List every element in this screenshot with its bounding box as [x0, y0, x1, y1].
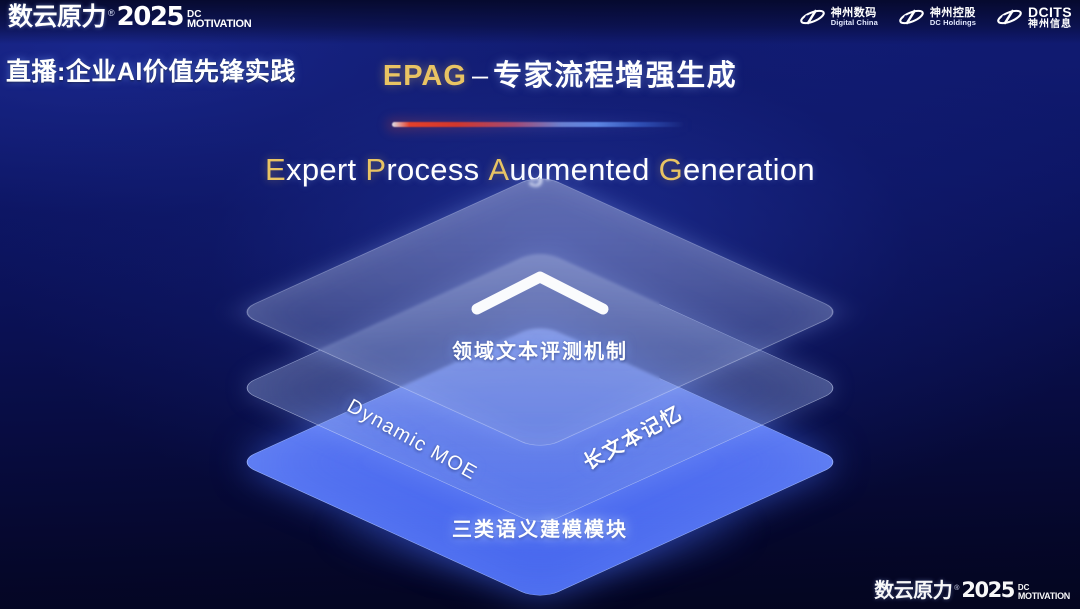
- watermark-brand-cn: 数云原力: [874, 581, 952, 601]
- expansion-rest-generation: eneration: [683, 152, 815, 187]
- expansion-rest-expert: xpert: [286, 152, 356, 187]
- logo-dc-holdings-text: 神州控股 DC Holdings: [930, 8, 976, 27]
- logo-digital-china-en: Digital China: [831, 19, 878, 27]
- watermark-dc-line2: MOTIVATION: [1018, 592, 1070, 600]
- logo-dc-holdings-en: DC Holdings: [930, 19, 976, 27]
- gradient-divider: [392, 122, 684, 127]
- logo-dcits-cn: 神州信息: [1028, 20, 1072, 30]
- brand-logo-bottom-right: 数云原力 ® 2025 DC MOTIVATION: [874, 580, 1070, 601]
- slide-title-cn: 专家流程增强生成: [493, 60, 737, 92]
- watermark-registered-mark: ®: [954, 585, 959, 592]
- slide-canvas: 数云原力 ® 2025 DC MOTIVATION 直播:企业AI价值先锋实践 …: [0, 0, 1080, 609]
- logo-dcits-text: DCITS 神州信息: [1028, 5, 1072, 30]
- expansion-cap-a: A: [488, 152, 509, 187]
- logo-dc-holdings: 神州控股 DC Holdings: [898, 7, 976, 27]
- slide-title-dash: –: [467, 60, 493, 92]
- partner-logo-group: 神州数码 Digital China 神州控股 DC Holdings: [799, 5, 1072, 30]
- slide-title: EPAG–专家流程增强生成: [0, 52, 1080, 94]
- swoosh-icon: [898, 7, 925, 27]
- layer-label-top: 领域文本评测机制: [290, 335, 790, 364]
- expansion-rest-process: rocess: [386, 152, 479, 187]
- brand-name-cn: 数云原力: [8, 5, 106, 30]
- expansion-space-3: [650, 152, 659, 187]
- expansion-cap-p: P: [365, 152, 386, 187]
- logo-digital-china-text: 神州数码 Digital China: [831, 8, 878, 27]
- expansion-cap-e: E: [265, 152, 286, 187]
- chevron-up-icon: [467, 267, 613, 317]
- watermark-dc-motivation: DC MOTIVATION: [1018, 584, 1070, 600]
- swoosh-icon: [996, 7, 1023, 27]
- logo-digital-china: 神州数码 Digital China: [799, 7, 878, 27]
- swoosh-icon: [799, 7, 826, 27]
- layer-label-bottom: 三类语义建模模块: [290, 513, 790, 542]
- watermark-year: 2025: [961, 580, 1013, 601]
- brand-registered-mark: ®: [108, 8, 115, 18]
- expansion-cap-g: G: [659, 152, 683, 187]
- brand-dc-line2: MOTIVATION: [187, 19, 251, 29]
- brand-logo-top-left: 数云原力 ® 2025 DC MOTIVATION: [8, 4, 251, 30]
- brand-year: 2025: [117, 4, 183, 30]
- logo-dcits-en: DCITS: [1028, 5, 1072, 20]
- logo-dcits: DCITS 神州信息: [996, 5, 1072, 30]
- brand-dc-motivation: DC MOTIVATION: [187, 10, 251, 29]
- layer-stack-diagram: 领域文本评测机制 Dynamic MOE 长文本记忆 三类语义建模模块: [290, 225, 790, 585]
- slide-title-acronym: EPAG: [383, 60, 467, 92]
